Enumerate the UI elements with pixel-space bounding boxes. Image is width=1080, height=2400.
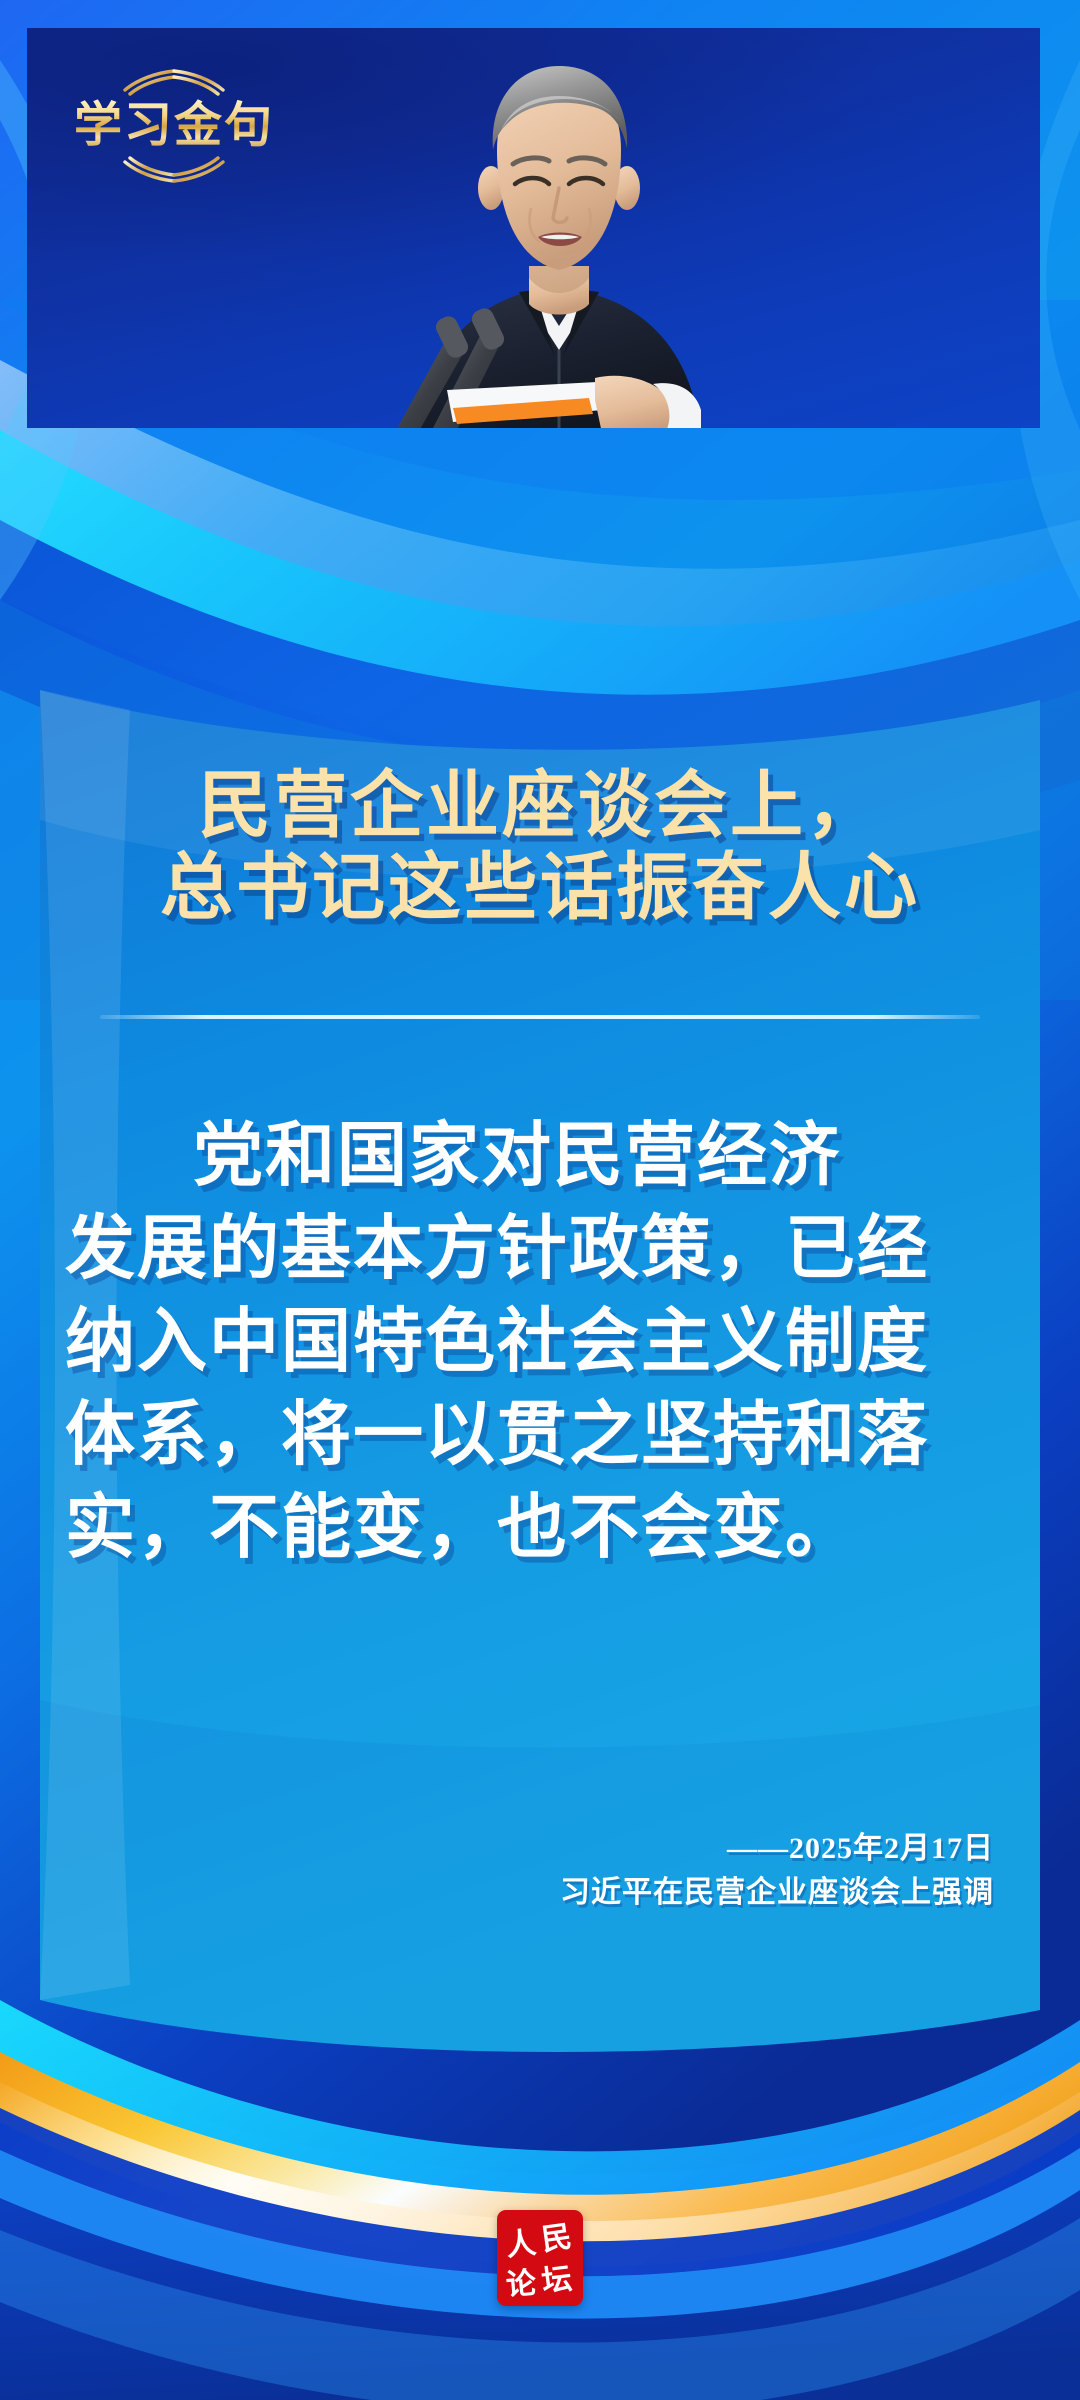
content-panel: 民营企业座谈会上， 总书记这些话振奋人心 党和国家对民营经济 发展的基本方针政策… <box>40 660 1040 1980</box>
open-book-icon: 学习金句 <box>49 53 299 203</box>
seal-characters: 人 民 论 坛 <box>497 2210 583 2306</box>
hero-panel: 学习金句 <box>27 28 1040 428</box>
seal-char-ren: 人 <box>504 2227 537 2263</box>
seal-char-lun: 论 <box>505 2267 539 2303</box>
poster-root: 学习金句 <box>0 0 1080 2400</box>
portrait-figure <box>297 38 817 428</box>
seal-char-tan: 坛 <box>540 2262 574 2298</box>
title-line-2: 总书记这些话振奋人心 <box>40 847 1040 929</box>
brand-logo-text: 学习金句 <box>74 99 274 152</box>
quote-line: 党和国家对民营经济 <box>65 1110 1015 1203</box>
quote-line: 实，不能变，也不会变。 <box>65 1482 1015 1575</box>
title-line-1: 民营企业座谈会上， <box>40 765 1040 847</box>
quote-block: 党和国家对民营经济 发展的基本方针政策，已经 纳入中国特色社会主义制度 体系，将… <box>65 1110 1015 1575</box>
page-title: 民营企业座谈会上， 总书记这些话振奋人心 <box>40 765 1040 929</box>
attribution-source: 习近平在民营企业座谈会上强调 <box>294 1870 994 1915</box>
quote-line: 体系，将一以贯之坚持和落 <box>65 1389 1015 1482</box>
brand-logo: 学习金句 <box>49 53 299 203</box>
quote-line: 发展的基本方针政策，已经 <box>65 1203 1015 1296</box>
seal-char-min: 民 <box>540 2220 574 2257</box>
attribution-date: ——2025年2月17日 <box>294 1828 994 1870</box>
speaker-portrait <box>297 38 817 428</box>
quote-line: 纳入中国特色社会主义制度 <box>65 1296 1015 1389</box>
title-divider <box>100 1015 980 1019</box>
attribution: ——2025年2月17日 习近平在民营企业座谈会上强调 <box>294 1828 994 1915</box>
publisher-seal: 人 民 论 坛 <box>497 2210 583 2306</box>
